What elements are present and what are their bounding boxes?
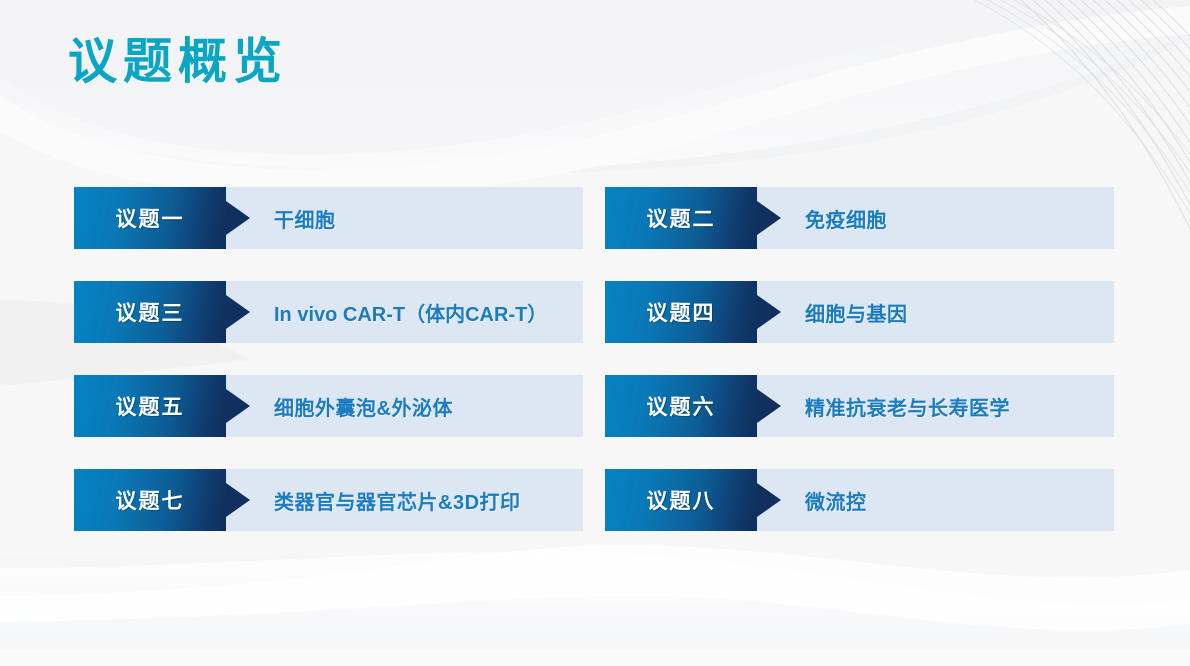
topic-row[interactable]: 议题三 In vivo CAR-T（体内CAR-T） <box>74 281 583 343</box>
topic-title: 类器官与器官芯片&3D打印 <box>274 486 521 515</box>
topic-badge-label: 议题五 <box>116 391 185 421</box>
topic-title: In vivo CAR-T（体内CAR-T） <box>274 298 547 327</box>
arrow-right-icon <box>226 389 250 423</box>
topic-title: 细胞与基因 <box>805 298 908 327</box>
topic-overview-grid: 议题一 干细胞 议题二 免疫细胞 议题三 In vivo CAR-T（体内CAR… <box>74 187 1114 531</box>
topic-title: 干细胞 <box>274 204 336 233</box>
topic-badge: 议题六 <box>605 375 757 437</box>
topic-row[interactable]: 议题二 免疫细胞 <box>605 187 1114 249</box>
topic-badge: 议题八 <box>605 469 757 531</box>
topic-title: 细胞外囊泡&外泌体 <box>274 392 453 421</box>
topic-row[interactable]: 议题四 细胞与基因 <box>605 281 1114 343</box>
page-title: 议题概览 <box>68 36 288 90</box>
arrow-right-icon <box>226 201 250 235</box>
topic-row[interactable]: 议题一 干细胞 <box>74 187 583 249</box>
topic-badge: 议题三 <box>74 281 226 343</box>
topic-badge: 议题五 <box>74 375 226 437</box>
topic-badge: 议题七 <box>74 469 226 531</box>
arrow-right-icon <box>757 389 781 423</box>
topic-badge-label: 议题四 <box>647 297 716 327</box>
topic-badge-label: 议题六 <box>647 391 716 421</box>
arrow-right-icon <box>757 483 781 517</box>
topic-badge-label: 议题八 <box>647 485 716 515</box>
topic-title: 微流控 <box>805 486 867 515</box>
topic-badge: 议题一 <box>74 187 226 249</box>
topic-badge-label: 议题三 <box>116 297 185 327</box>
topic-badge: 议题四 <box>605 281 757 343</box>
arrow-right-icon <box>226 483 250 517</box>
topic-badge-label: 议题一 <box>116 203 185 233</box>
arrow-right-icon <box>226 295 250 329</box>
topic-row[interactable]: 议题六 精准抗衰老与长寿医学 <box>605 375 1114 437</box>
topic-badge-label: 议题二 <box>647 203 716 233</box>
topic-badge-label: 议题七 <box>116 485 185 515</box>
topic-row[interactable]: 议题五 细胞外囊泡&外泌体 <box>74 375 583 437</box>
arrow-right-icon <box>757 201 781 235</box>
arrow-right-icon <box>757 295 781 329</box>
topic-title: 免疫细胞 <box>805 204 887 233</box>
topic-title: 精准抗衰老与长寿医学 <box>805 392 1010 421</box>
topic-row[interactable]: 议题七 类器官与器官芯片&3D打印 <box>74 469 583 531</box>
topic-badge: 议题二 <box>605 187 757 249</box>
topic-row[interactable]: 议题八 微流控 <box>605 469 1114 531</box>
